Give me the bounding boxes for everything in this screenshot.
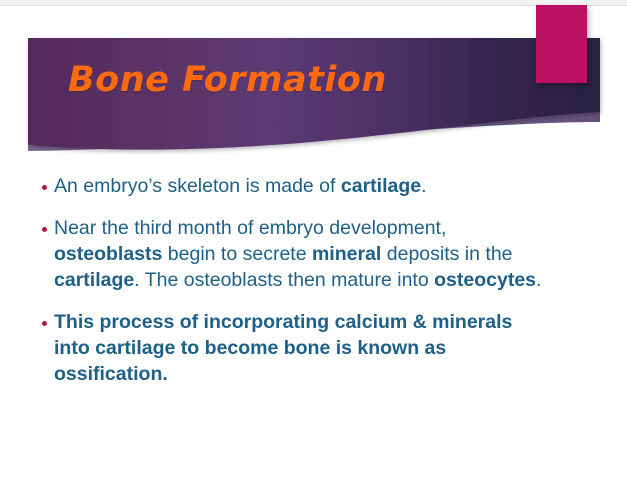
- presentation-slide: Bone Formation An embryo’s skeleton is m…: [0, 0, 627, 481]
- list-item: An embryo’s skeleton is made of cartilag…: [40, 174, 550, 200]
- slide-title: Bone Formation: [68, 61, 538, 100]
- list-item: Near the third month of embryo developme…: [40, 216, 550, 294]
- bullet-dot-icon: [42, 321, 47, 326]
- bullet-dot-icon: [42, 227, 47, 232]
- magenta-accent-block: [536, 5, 587, 83]
- slide-body: An embryo’s skeleton is made of cartilag…: [40, 174, 550, 387]
- bullet-dot-icon: [42, 185, 47, 190]
- list-item-text-3: This process of incorporating calcium & …: [54, 311, 512, 385]
- list-item-text-2: Near the third month of embryo developme…: [54, 217, 541, 291]
- list-item: This process of incorporating calcium & …: [40, 310, 550, 388]
- title-banner: Bone Formation: [0, 0, 627, 175]
- list-item-text-1: An embryo’s skeleton is made of cartilag…: [54, 175, 427, 197]
